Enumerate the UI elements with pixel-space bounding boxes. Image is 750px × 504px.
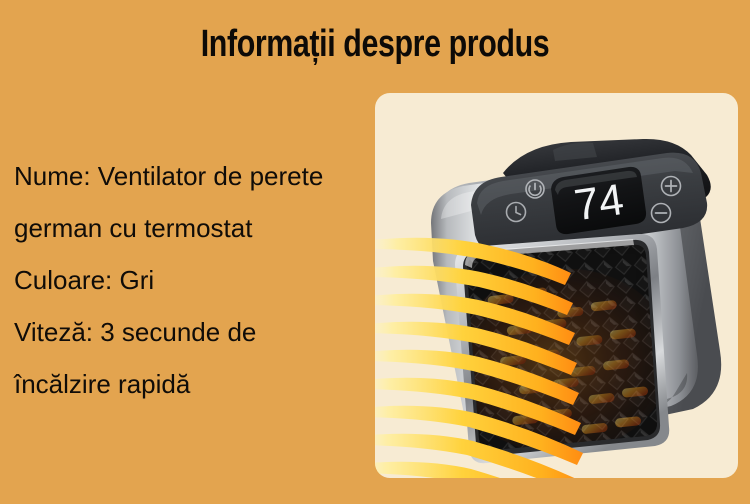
specification-list: Nume: Ventilator de perete german cu ter… bbox=[14, 150, 374, 410]
product-info-banner: Informații despre produs Nume: Ventilato… bbox=[0, 0, 750, 504]
power-icon[interactable] bbox=[526, 180, 544, 198]
product-photo-panel: 74 bbox=[375, 93, 738, 478]
spec-line: încălzire rapidă bbox=[14, 358, 374, 410]
spec-line: Nume: Ventilator de perete bbox=[14, 150, 374, 202]
spec-line: german cu termostat bbox=[14, 202, 374, 254]
product-photo: 74 bbox=[375, 93, 738, 478]
page-title: Informații despre produs bbox=[75, 23, 675, 66]
display-value: 74 bbox=[571, 175, 626, 230]
spec-line: Viteză: 3 secunde de bbox=[14, 306, 374, 358]
spec-line: Culoare: Gri bbox=[14, 254, 374, 306]
